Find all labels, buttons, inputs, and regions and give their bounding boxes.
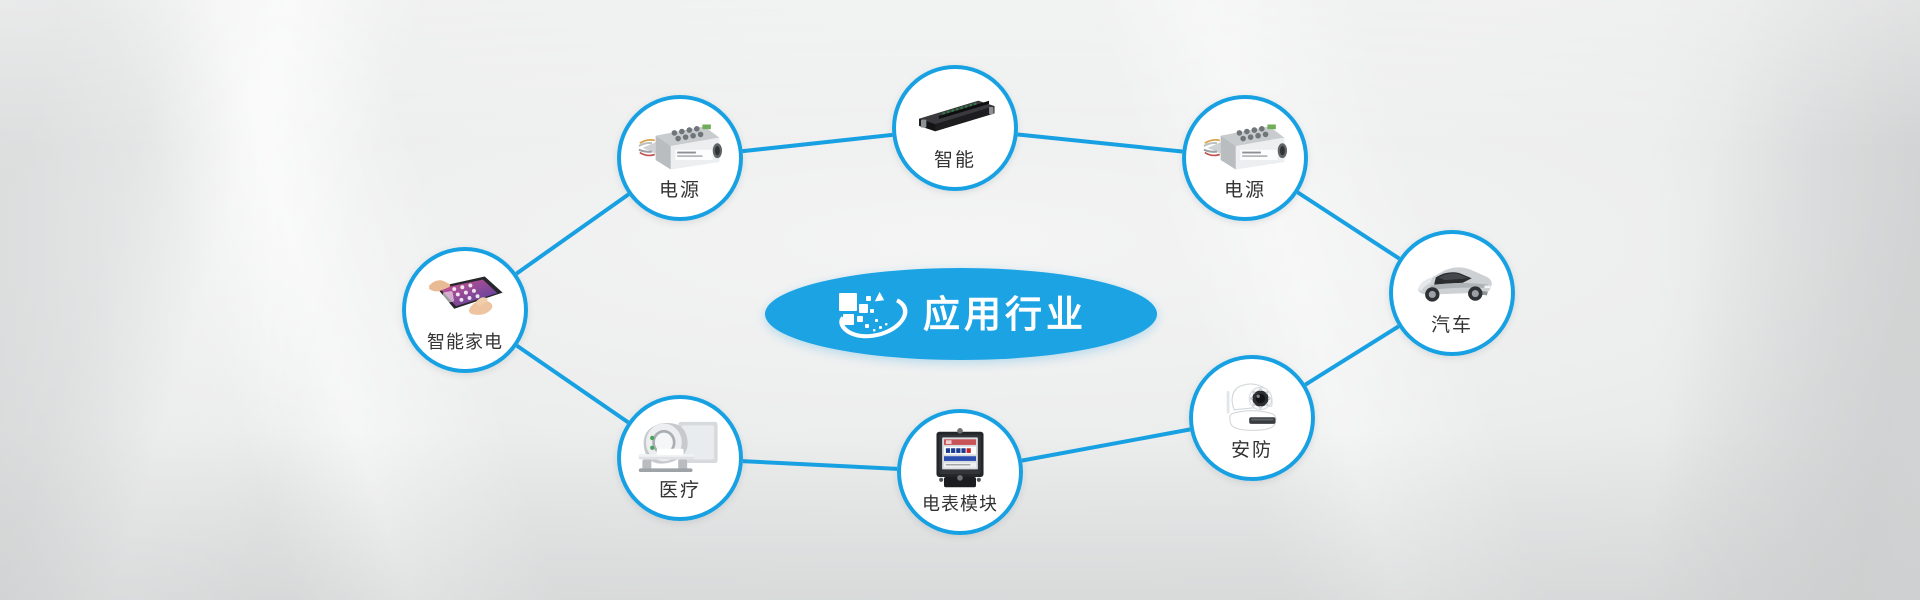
industry-node-label: 电源 xyxy=(659,181,701,200)
connector-power-left-to-smart xyxy=(742,135,894,152)
connector-smart-to-power-right xyxy=(1017,134,1184,151)
tablet-touchscreen-icon xyxy=(422,267,508,329)
industry-node-label: 安防 xyxy=(1231,441,1273,460)
industry-node-label: 电源 xyxy=(1224,181,1266,200)
industry-node-security[interactable]: 安防 xyxy=(1189,355,1315,481)
industry-node-meter-module[interactable]: 电表模块 xyxy=(897,409,1023,535)
industry-node-smart-home[interactable]: 智能家电 xyxy=(402,247,528,373)
connector-meter-module-to-medical xyxy=(742,461,898,469)
pc-power-supply-icon xyxy=(1202,115,1288,177)
center-badge: 应用行业 xyxy=(765,268,1157,360)
industry-node-medical[interactable]: 医疗 xyxy=(617,395,743,521)
sports-car-icon xyxy=(1409,250,1495,312)
electric-meter-icon xyxy=(917,429,1003,491)
industry-node-automotive[interactable]: 汽车 xyxy=(1389,230,1515,356)
connector-medical-to-smart-home xyxy=(516,345,629,423)
industry-node-power-left[interactable]: 电源 xyxy=(617,95,743,221)
industry-node-label: 电表模块 xyxy=(922,495,998,513)
connector-automotive-to-security xyxy=(1305,326,1400,385)
badge-title: 应用行业 xyxy=(923,296,1087,333)
connector-smart-home-to-power-left xyxy=(516,194,630,274)
pc-power-supply-icon xyxy=(637,115,723,177)
industry-node-label: 智能 xyxy=(934,151,976,170)
industry-node-power-right[interactable]: 电源 xyxy=(1182,95,1308,221)
connector-security-to-meter-module xyxy=(1021,429,1191,460)
industry-node-label: 医疗 xyxy=(659,481,701,500)
industry-node-label: 智能家电 xyxy=(427,333,503,351)
application-industries-banner: 智能家电 电源 xyxy=(0,0,1920,600)
ip-security-camera-icon xyxy=(1209,375,1295,437)
network-swoosh-logo-icon xyxy=(835,285,909,343)
industry-node-label: 汽车 xyxy=(1431,316,1473,335)
ct-mri-scanner-icon xyxy=(637,415,723,477)
connector-power-right-to-automotive xyxy=(1297,192,1400,259)
industry-node-smart[interactable]: 智能 xyxy=(892,65,1018,191)
rack-server-icon xyxy=(912,85,998,147)
